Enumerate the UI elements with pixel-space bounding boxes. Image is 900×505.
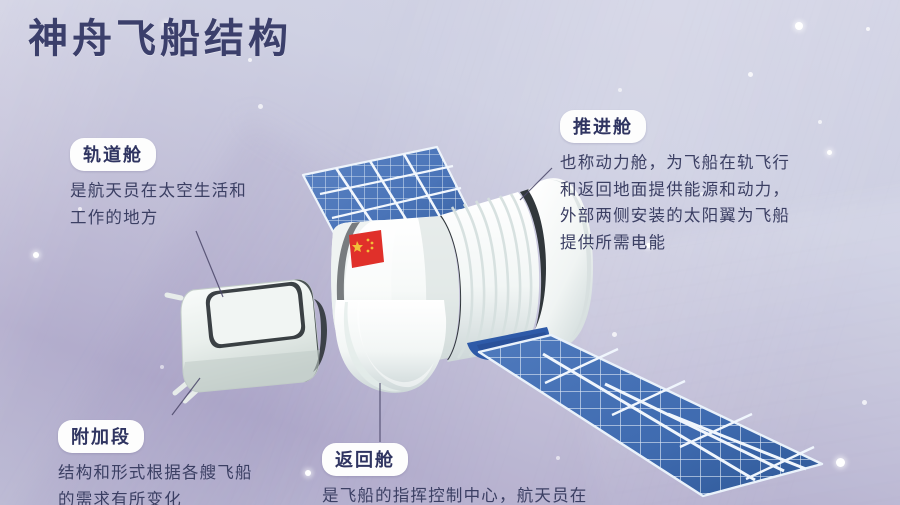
return-capsule-part: [335, 300, 446, 393]
china-flag-decal: [349, 230, 384, 268]
badge-return-capsule: 返回舱: [322, 443, 408, 476]
callout-additional-segment: 附加段 结构和形式根据各艘飞船 的需求有所变化: [58, 420, 338, 505]
description-return-capsule: 是飞船的指挥控制中心，航天员在: [322, 483, 662, 505]
callout-orbital-module: 轨道舱 是航天员在太空生活和 工作的地方: [70, 138, 320, 231]
description-orbital-module: 是航天员在太空生活和 工作的地方: [70, 178, 320, 231]
infographic-canvas: 神舟飞船结构 轨道舱 是航天员在太空生活和 工作的地方 推进舱 也称动力舱，为飞…: [0, 0, 900, 505]
page-title: 神舟飞船结构: [28, 18, 292, 60]
description-additional-segment: 结构和形式根据各艘飞船 的需求有所变化: [58, 460, 338, 505]
badge-orbital-module: 轨道舱: [70, 138, 156, 171]
badge-propulsion-module: 推进舱: [560, 110, 646, 143]
badge-additional-segment: 附加段: [58, 420, 144, 453]
additional-segment-part: [167, 280, 327, 401]
callout-propulsion-module: 推进舱 也称动力舱，为飞船在轨飞行 和返回地面提供能源和动力， 外部两侧安装的太…: [560, 110, 890, 257]
callout-return-capsule: 返回舱 是飞船的指挥控制中心，航天员在: [322, 443, 662, 505]
description-propulsion-module: 也称动力舱，为飞船在轨飞行 和返回地面提供能源和动力， 外部两侧安装的太阳翼为飞…: [560, 150, 890, 257]
